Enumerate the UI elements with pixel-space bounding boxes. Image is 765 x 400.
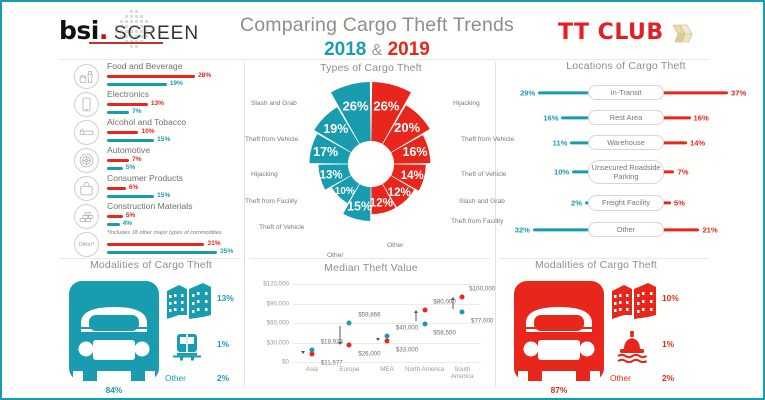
modalities-2018-item-0-value: 13% [217,293,234,303]
bar-value-label: 7% [132,157,142,164]
rose-slice-value-2018: 17% [313,145,338,159]
food-beverage-icon [74,64,99,89]
rose-slice-value-2019: 16% [402,145,427,159]
median-label-2018: $40,000 [396,325,418,332]
title-years: 2018 & 2019 [217,39,537,61]
commodity-bar-2019: 28% [107,73,211,80]
train-icon [171,331,203,363]
y-axis-tick: $30,000 [267,339,289,346]
location-value-2018: 32% [515,225,530,234]
commodity-label: Alcohol and Tobacco [107,117,186,127]
commodity-row: Electronics13%7% [62,90,240,117]
bar-fill [107,131,138,134]
trend-arrow-line [415,313,416,321]
rose-label-2019: Other [387,242,404,249]
warehouse-buildings-icon [165,281,213,321]
trend-arrow-head [414,310,418,313]
commodity-bar-2019: 7% [107,157,142,164]
trend-arrow-head [301,351,305,354]
header: bsi. SCREEN Comparing Cargo Theft Trends… [2,2,763,58]
rose-label-2018: Theft of Vehicle [259,224,304,231]
commodity-label: Consumer Products [107,173,183,183]
commodity-row: Consumer Products6%15% [62,174,240,201]
bar-value-label: 15% [157,137,170,144]
median-label-2019: $100,000 [469,286,495,293]
commodity-bar-2019: 31% [107,241,221,248]
rose-center-hole [348,141,394,187]
location-bar-2019 [662,228,699,231]
bar-fill [107,195,154,198]
screen-underline [89,42,163,44]
location-row: 11%Warehouse14% [497,130,755,155]
bar-value-label: 15% [157,193,170,200]
median-dot-2019 [460,295,465,300]
bar-value-label: 5% [126,165,136,172]
location-row: 10%Unsecured Roadside Parking7% [497,155,755,189]
bar-fill [107,139,154,142]
commodity-label: Electronics [107,89,149,99]
commodity-bar-2018: 7% [107,109,142,116]
x-axis-tick: South America [442,366,482,381]
commodity-bar-2019: 10% [107,129,155,136]
median-label-2019: $33,000 [396,346,418,353]
rose-label-2018: Theft from Facility [245,198,297,205]
bar-value-label: 6% [129,185,139,192]
x-axis-tick: Europe [329,366,369,373]
modalities-2019-panel: Modalities of Cargo Theft 87% [502,259,690,394]
truck-icon [67,279,161,384]
location-bar-2018 [533,228,590,231]
trend-arrow-head [376,338,380,341]
location-pill[interactable]: Unsecured Roadside Parking [588,160,664,185]
tt-club-logo: TT CLUB [558,20,697,45]
infographic-page: bsi. SCREEN Comparing Cargo Theft Trends… [0,0,765,400]
x-axis-tick: Asia [292,366,332,373]
ampersand: & [372,42,383,59]
rose-slice-value-2018: 26% [343,98,369,113]
modalities-2018-panel: Modalities of Cargo Theft 84% [57,259,245,394]
median-dot-2019 [422,308,427,313]
commodity-bar-2018: 15% [107,193,170,200]
median-dot-2018 [460,309,465,314]
grid-line [293,323,481,324]
handbag-icon [74,176,99,201]
modalities-2019-other-label: Other [610,373,631,383]
y-axis-tick: $60,000 [267,320,289,327]
page-title: Comparing Cargo Theft Trends 2018 & 2019 [217,14,537,61]
tt-club-wordmark: TT CLUB [558,20,664,45]
median-theft-value-panel: Median Theft Value $0$30,000$60,000$90,0… [247,262,495,394]
location-pill[interactable]: Freight Facility [588,195,664,210]
bar-value-label: 13% [151,101,164,108]
bar-value-label: 35% [220,249,233,256]
rose-slice-value-2019: 14% [401,170,424,182]
location-row: 32%Other21% [497,217,755,242]
modalities-2019-truck-value: 87% [512,385,606,395]
rose-label-2019: Theft from Facility [451,218,503,225]
locations-panel-title: Locations of Cargo Theft [497,60,755,72]
rose-slice-value-2018: 15% [347,200,372,214]
bar-fill [107,111,129,114]
bar-value-label: 19% [170,81,183,88]
median-dot-2019 [385,338,390,343]
truck-icon [512,279,606,384]
rose-label-2018: Theft from Vehicle [245,136,298,143]
types-of-cargo-theft-panel: Types of Cargo Theft 26%20%16%14%12%12%2… [247,60,495,260]
location-pill[interactable]: Rest Area [588,110,664,125]
rose-slice-value-2018: 13% [320,170,343,182]
location-bar-2019 [662,116,691,119]
location-value-2019: 16% [694,113,709,122]
modalities-2019-item-1-value: 1% [662,339,674,349]
location-value-2019: 7% [677,168,688,177]
rose-label-2019: Hijacking [453,100,480,107]
location-value-2018: 2% [571,199,582,208]
grid-line [293,284,481,285]
cigarette-icon [74,120,99,145]
median-chart-title: Median Theft Value [247,262,495,274]
bar-fill [107,187,126,190]
location-bar-2018 [538,91,590,94]
modalities-2018-other-value: 2% [217,373,229,383]
ship-icon [616,329,648,363]
other-text-icon: Other* [74,232,99,257]
smartphone-icon [74,92,99,117]
location-row: 16%Rest Area16% [497,105,755,130]
rose-label-2018: Hijacking [251,171,278,178]
warehouse-buildings-icon [610,281,658,321]
year-2018-label: 2018 [324,39,366,60]
commodity-bar-2018: 15% [107,137,170,144]
median-dot-2019 [347,343,352,348]
bar-value-label: 10% [141,129,154,136]
bar-fill [107,75,195,78]
bar-fill [107,223,120,226]
location-bar-2019 [662,141,687,144]
commodity-bar-2018: 19% [107,81,183,88]
location-bar-2018 [561,116,590,119]
trend-arrow-head [338,342,342,345]
x-axis-tick: MEA [367,366,407,373]
commodity-bar-2018: 5% [107,165,135,172]
location-pill[interactable]: In-Transit [588,85,664,100]
modalities-2018-item-1-value: 1% [217,339,229,349]
location-pill[interactable]: Other [588,222,664,237]
y-axis-tick: $0 [282,359,289,366]
bar-value-label: 31% [207,241,220,248]
commodity-bar-2019: 5% [107,213,135,220]
bar-fill [107,103,148,106]
rose-label-2018: Other [327,252,344,259]
location-value-2019: 21% [702,225,717,234]
bsi-grid-icon [110,8,158,54]
commodity-label: Food and Beverage [107,61,183,71]
modalities-2018-other-label: Other [165,373,186,383]
commodity-row: Other**Includes 18 other major types of … [62,230,240,257]
bar-fill [107,159,129,162]
median-theft-plot: $0$30,000$60,000$90,000$120,000AsiaEurop… [293,284,481,362]
location-value-2018: 10% [554,168,569,177]
commodity-row: Construction Materials5%4% [62,202,240,229]
bar-fill [107,243,204,246]
modalities-2019-title: Modalities of Cargo Theft [502,259,690,271]
median-dot-2019 [309,352,314,357]
bar-value-label: 4% [123,221,133,228]
bar-value-label: 28% [198,73,211,80]
location-value-2018: 11% [553,138,568,147]
bsi-brand-text: bsi [59,16,99,45]
x-axis-tick: North America [405,366,445,373]
commodity-bar-2018: 4% [107,221,132,228]
commodity-bar-2018: 35% [107,249,233,256]
bar-fill [107,215,123,218]
rose-label-2018: Slash and Grab [251,100,297,107]
location-pill[interactable]: Warehouse [588,135,664,150]
rose-slice-value-2019: 20% [394,120,420,135]
median-label-2018: $77,000 [471,317,493,324]
modalities-2018-truck-value: 84% [67,385,161,395]
rose-slice-value-2018: 10% [335,186,355,197]
commodity-bar-2019: 13% [107,101,164,108]
tire-wheel-icon [74,148,99,173]
commodity-row: Alcohol and Tobacco10%15% [62,118,240,145]
modalities-2019-other-value: 2% [662,373,674,383]
trend-arrow-head [451,297,455,300]
location-row: 2%Freight Facility5% [497,189,755,217]
location-value-2019: 37% [731,88,746,97]
bar-fill [107,251,217,254]
median-label-2019: $26,000 [358,351,380,358]
location-value-2019: 5% [674,199,685,208]
median-label-2018: $59,866 [358,312,380,319]
commodity-row: Automotive7%5% [62,146,240,173]
types-panel-title: Types of Cargo Theft [247,62,495,74]
median-dot-2018 [347,321,352,326]
bar-fill [107,83,167,86]
location-bar-2019 [662,91,728,94]
rose-slice-value-2019: 26% [373,98,399,113]
bsi-wordmark: bsi. [59,18,108,43]
location-value-2019: 14% [690,138,705,147]
commodity-bar-2019: 6% [107,185,138,192]
commodities-panel: Food and Beverage28%19%Electronics13%7%A… [62,62,240,257]
year-2019-label: 2019 [388,39,430,60]
trend-arrow-line [340,326,341,342]
commodity-other-note: *Includes 18 other major types of commod… [107,230,222,236]
y-axis-tick: $90,000 [267,300,289,307]
locations-panel: Locations of Cargo Theft 29%In-Transit37… [497,60,755,260]
bricks-icon [74,204,99,229]
trend-arrow-line [453,300,454,309]
commodity-label: Construction Materials [107,201,193,211]
bar-value-label: 5% [126,213,136,220]
median-label-2018: $58,500 [433,329,455,336]
median-label-2019: $11,577 [321,360,343,367]
commodity-label: Automotive [107,145,150,155]
location-row: 29%In-Transit37% [497,80,755,105]
bar-fill [107,167,123,170]
modalities-2018-title: Modalities of Cargo Theft [57,259,245,271]
location-value-2018: 16% [543,113,558,122]
modalities-2019-item-0-value: 10% [662,293,679,303]
commodity-row: Food and Beverage28%19% [62,62,240,89]
tt-chevron-icon [671,21,697,45]
types-rose-chart: 26%20%16%14%12%12%26%19%17%13%10%15%Hija… [247,76,495,261]
rose-slice-value-2019: 12% [370,198,393,210]
bsi-dot: . [99,16,108,45]
y-axis-tick: $120,000 [263,281,289,288]
location-value-2018: 29% [520,88,535,97]
title-main-text: Comparing Cargo Theft Trends [217,14,537,37]
median-dot-2018 [422,321,427,326]
rose-slice-value-2018: 19% [323,122,348,136]
bar-value-label: 7% [132,109,142,116]
